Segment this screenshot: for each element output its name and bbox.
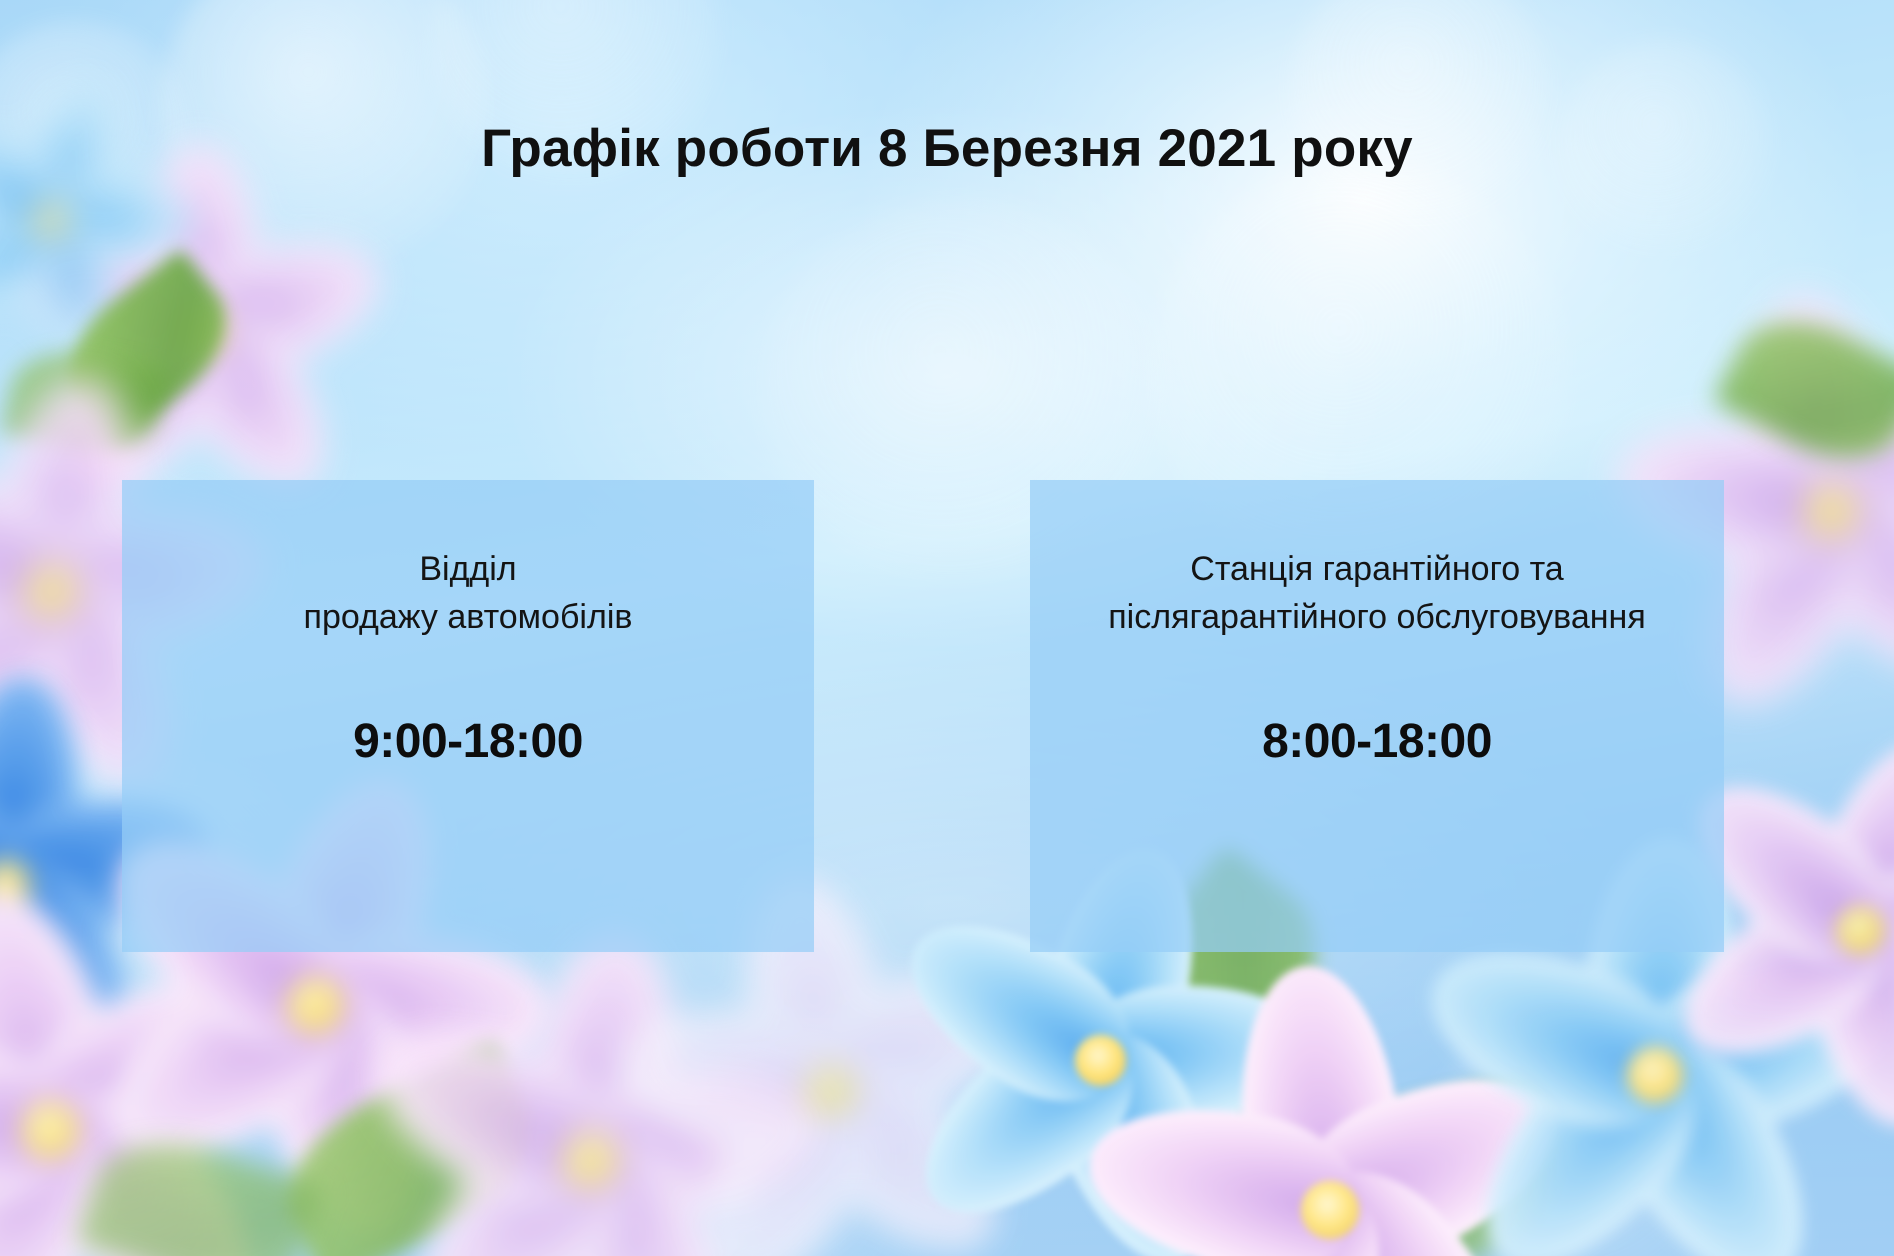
flower-core: [1805, 485, 1856, 536]
page-title: Графік роботи 8 Березня 2021 року: [0, 118, 1894, 179]
card-title-service: Станція гарантійного та післягарантійног…: [1108, 545, 1645, 642]
card-hours-sales: 9:00-18:00: [353, 714, 583, 769]
schedule-card-sales: Відділ продажу автомобілів 9:00-18:00: [122, 480, 814, 952]
card-title-sales: Відділ продажу автомобілів: [304, 545, 633, 642]
schedule-card-service: Станція гарантійного та післягарантійног…: [1030, 480, 1724, 952]
flower-core: [25, 565, 76, 616]
poster-canvas: Графік роботи 8 Березня 2021 року Відділ…: [0, 0, 1894, 1256]
card-hours-service: 8:00-18:00: [1262, 714, 1492, 769]
flower-core: [33, 203, 67, 237]
